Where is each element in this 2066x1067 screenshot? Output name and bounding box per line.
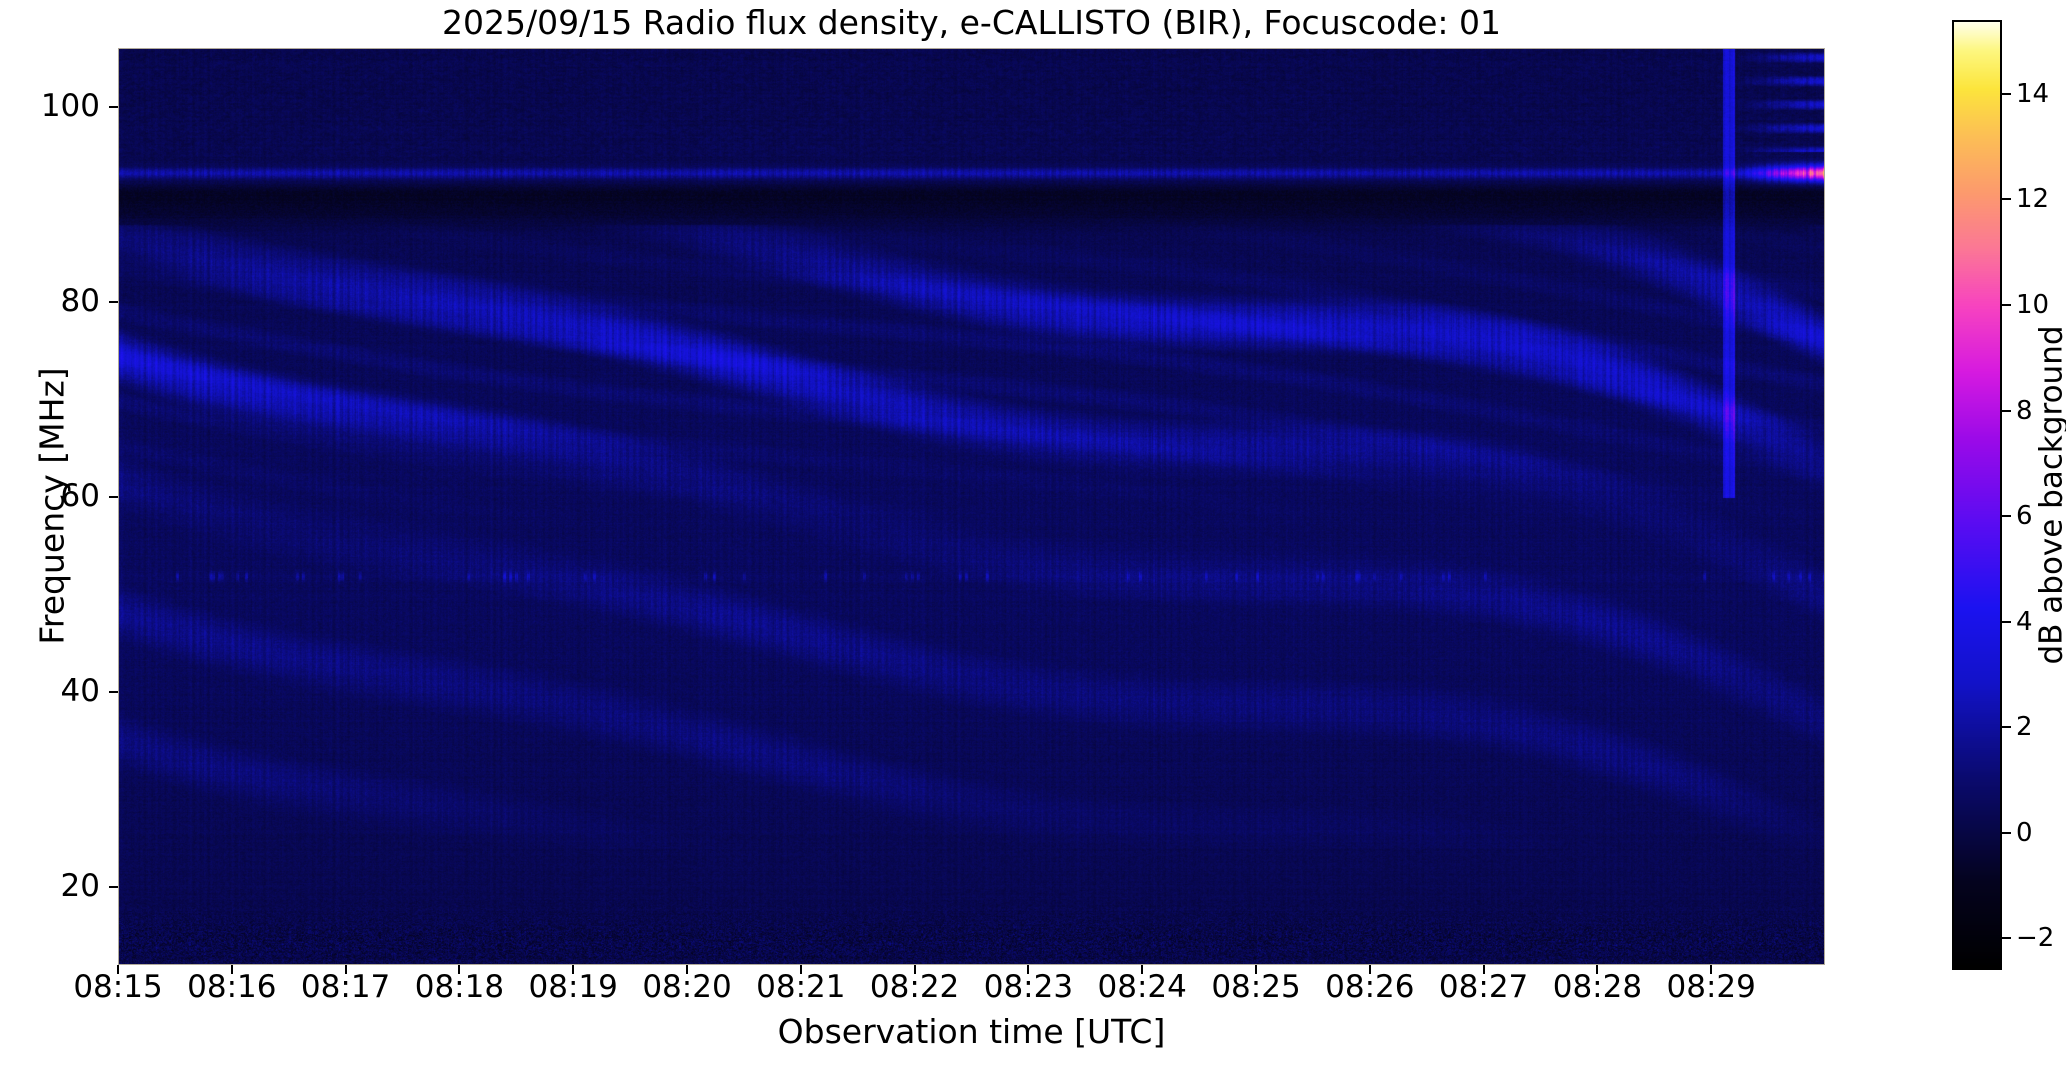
colorbar[interactable] <box>1952 20 2002 970</box>
x-tick-label: 08:26 <box>1325 972 1414 1003</box>
colorbar-tick-mark <box>2002 937 2011 939</box>
colorbar-tick-label: 4 <box>2016 609 2033 635</box>
colorbar-gradient <box>1954 22 2000 968</box>
y-tick-mark <box>109 301 118 303</box>
y-tick-label: 80 <box>0 286 100 317</box>
y-tick-label: 40 <box>0 676 100 707</box>
x-axis-label: Observation time [UTC] <box>118 1012 1825 1052</box>
x-tick-label: 08:25 <box>1211 972 1300 1003</box>
x-tick-label: 08:22 <box>870 972 959 1003</box>
colorbar-tick-mark <box>2002 832 2011 834</box>
x-tick-label: 08:15 <box>73 972 162 1003</box>
colorbar-tick-mark <box>2002 515 2011 517</box>
x-tick-label: 08:23 <box>984 972 1073 1003</box>
x-tick-label: 08:29 <box>1667 972 1756 1003</box>
x-tick-label: 08:21 <box>756 972 845 1003</box>
y-tick-label: 20 <box>0 871 100 902</box>
colorbar-tick-label: 0 <box>2016 820 2033 846</box>
colorbar-tick-mark <box>2002 198 2011 200</box>
x-tick-label: 08:20 <box>642 972 731 1003</box>
colorbar-tick-label: 2 <box>2016 714 2033 740</box>
colorbar-tick-label: 8 <box>2016 398 2033 424</box>
colorbar-tick-mark <box>2002 726 2011 728</box>
x-tick-label: 08:28 <box>1553 972 1642 1003</box>
x-tick-label: 08:16 <box>187 972 276 1003</box>
y-tick-label: 100 <box>0 91 100 122</box>
x-tick-label: 08:17 <box>301 972 390 1003</box>
spectrogram-image[interactable] <box>119 49 1825 965</box>
spectrogram-axes[interactable] <box>118 48 1825 965</box>
y-tick-mark <box>109 886 118 888</box>
colorbar-tick-mark <box>2002 304 2011 306</box>
colorbar-tick-mark <box>2002 93 2011 95</box>
colorbar-tick-mark <box>2002 621 2011 623</box>
page-title: 2025/09/15 Radio flux density, e-CALLIST… <box>118 2 1825 44</box>
colorbar-label-group: dB above background <box>2034 20 2066 970</box>
y-tick-label: 60 <box>0 481 100 512</box>
colorbar-label: dB above background <box>2037 285 2066 705</box>
x-tick-label: 08:18 <box>415 972 504 1003</box>
y-tick-mark <box>109 106 118 108</box>
x-tick-label: 08:19 <box>529 972 618 1003</box>
y-tick-mark <box>109 691 118 693</box>
colorbar-tick-label: 6 <box>2016 503 2033 529</box>
x-tick-label: 08:24 <box>1098 972 1187 1003</box>
y-tick-mark <box>109 496 118 498</box>
figure-canvas: 2025/09/15 Radio flux density, e-CALLIST… <box>0 0 2066 1067</box>
colorbar-tick-mark <box>2002 410 2011 412</box>
x-tick-label: 08:27 <box>1439 972 1528 1003</box>
